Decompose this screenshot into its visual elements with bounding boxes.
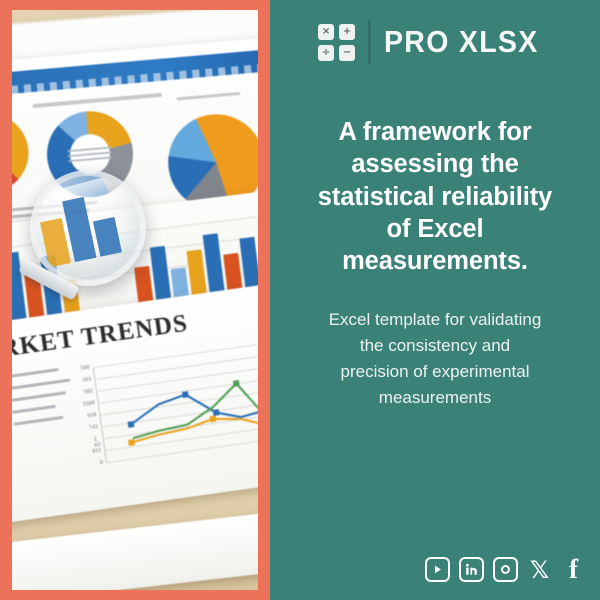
x-twitter-icon[interactable]: 𝕏 — [527, 557, 552, 582]
brand-lockup[interactable]: × + ÷ − PRO XLSX — [318, 20, 552, 64]
headline: A framework for assessing the statistica… — [304, 116, 566, 277]
instagram-icon[interactable] — [493, 557, 518, 582]
trend-y-tick: 743 — [89, 424, 99, 431]
content-panel: × + ÷ − PRO XLSX A framework for assessi… — [270, 0, 600, 600]
facebook-icon[interactable]: f — [561, 557, 586, 582]
donut-center-label — [68, 146, 113, 162]
youtube-icon[interactable] — [425, 557, 450, 582]
photo-panel: INFOGRAPHICS INFOGRAPHICS — [0, 0, 270, 600]
photo-frame: INFOGRAPHICS INFOGRAPHICS — [12, 10, 258, 590]
pie-caption-line — [176, 92, 240, 101]
calc-key-multiply: × — [318, 24, 334, 40]
calc-key-plus: + — [339, 24, 355, 40]
trend-y-tick: 650 — [87, 412, 97, 419]
trend-y-tick: 502 — [84, 388, 94, 395]
trend-y-tick: 015 — [92, 448, 102, 455]
subheadline: Excel template for validating the consis… — [327, 307, 543, 410]
trend-line-chart: 560 103 502 3500 650 743 2 63 015 0 — [93, 342, 258, 462]
trend-y-tick: 560 — [80, 365, 90, 372]
donut-chart-left — [12, 111, 32, 196]
header-band-text — [12, 61, 258, 107]
linkedin-icon[interactable] — [459, 557, 484, 582]
trend-lines — [93, 342, 258, 462]
magnified-bars — [36, 183, 151, 267]
calc-key-minus: − — [339, 45, 355, 61]
brand-name: PRO XLSX — [384, 24, 539, 60]
calc-key-divide: ÷ — [318, 45, 334, 61]
trend-y-tick: 0 — [100, 460, 104, 466]
trend-y-tick: 103 — [82, 377, 92, 384]
trend-y-tick: 2 63 — [93, 436, 101, 449]
brand-divider — [368, 20, 371, 64]
social-post-card: INFOGRAPHICS INFOGRAPHICS — [0, 0, 600, 600]
calculator-icon: × + ÷ − — [318, 24, 355, 61]
social-links: 𝕏 f — [425, 557, 586, 582]
